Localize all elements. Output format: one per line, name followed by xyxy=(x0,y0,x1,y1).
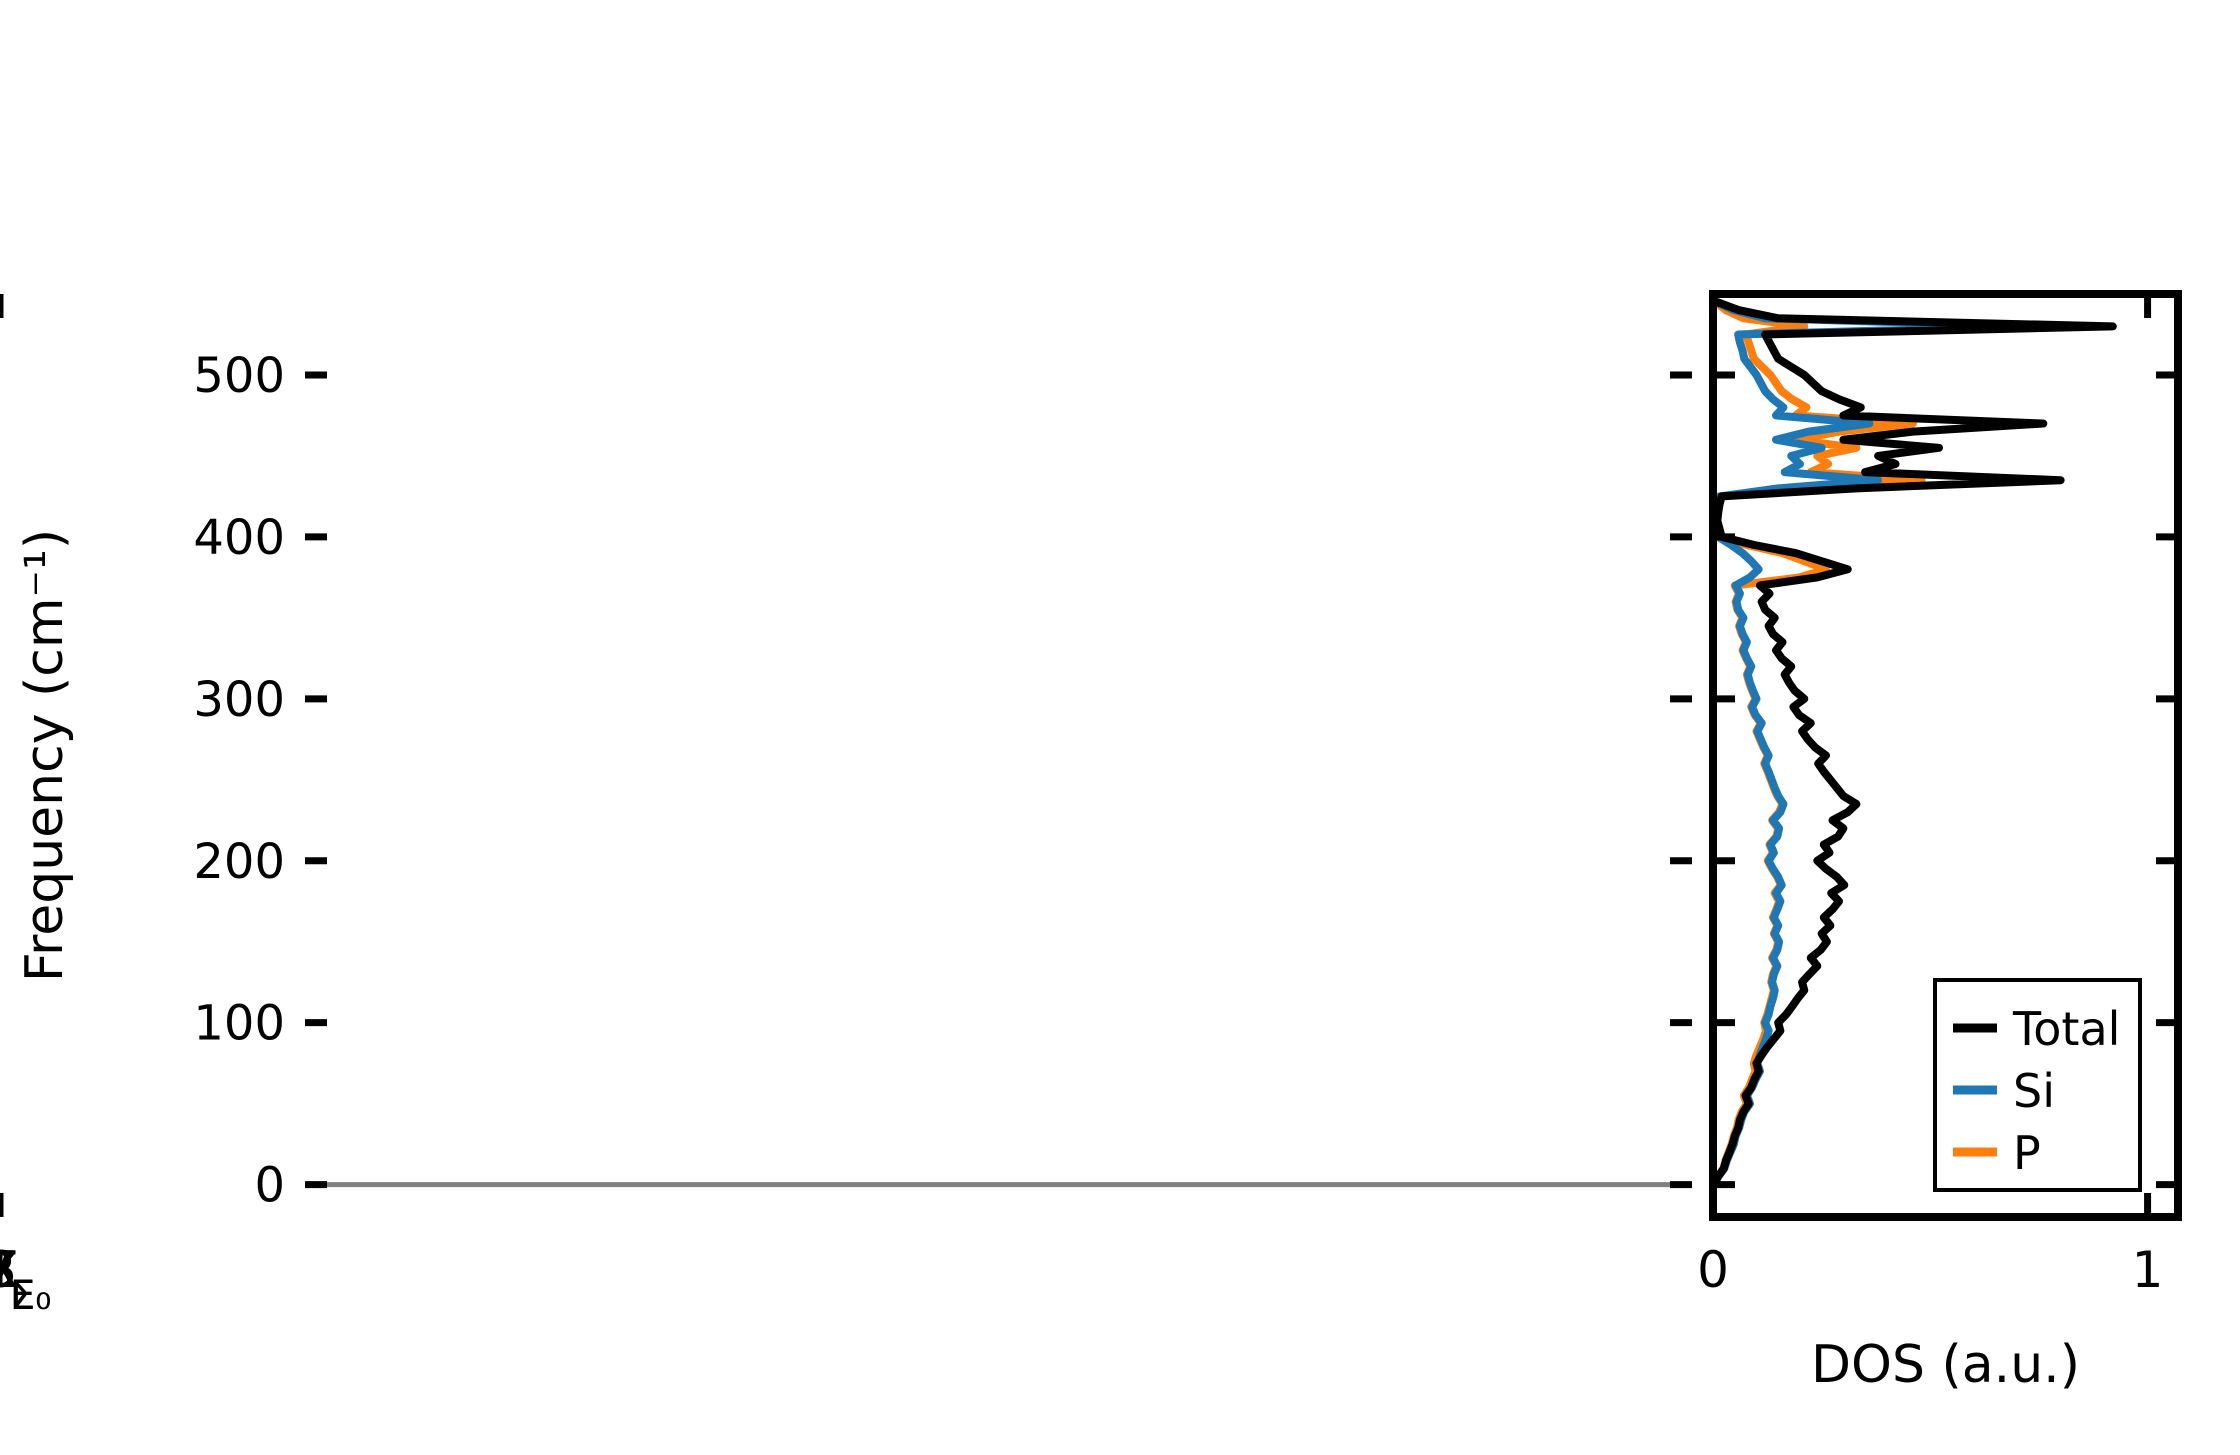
dos-x-tick-label: 1 xyxy=(2132,1241,2164,1299)
band-y-tick-label: 500 xyxy=(193,348,285,404)
band-y-axis-title: Frequency (cm⁻¹) xyxy=(15,529,75,982)
dos-x-axis-title: DOS (a.u.) xyxy=(1811,1335,2080,1395)
band-x-tick-label: T xyxy=(0,1241,16,1299)
dos-x-tick-label: 0 xyxy=(1697,1241,1729,1299)
clip-top xyxy=(0,0,2240,294)
band-y-tick-label: 300 xyxy=(193,672,285,728)
band-y-tick-label: 200 xyxy=(193,834,285,890)
band-y-tick-label: 100 xyxy=(193,996,285,1052)
band-plot-area xyxy=(305,294,1692,1217)
legend-label-total: Total xyxy=(2012,1002,2120,1056)
band-y-tick-label: 400 xyxy=(193,510,285,566)
figure-canvas: Participation Ratio0.250.500.751.0001002… xyxy=(0,0,2240,1455)
figure-root: Participation Ratio0.250.500.751.0001002… xyxy=(0,0,2240,1455)
legend-label-p: P xyxy=(2013,1126,2041,1180)
band-y-tick-label: 0 xyxy=(254,1158,285,1214)
legend-label-si: Si xyxy=(2013,1064,2055,1118)
